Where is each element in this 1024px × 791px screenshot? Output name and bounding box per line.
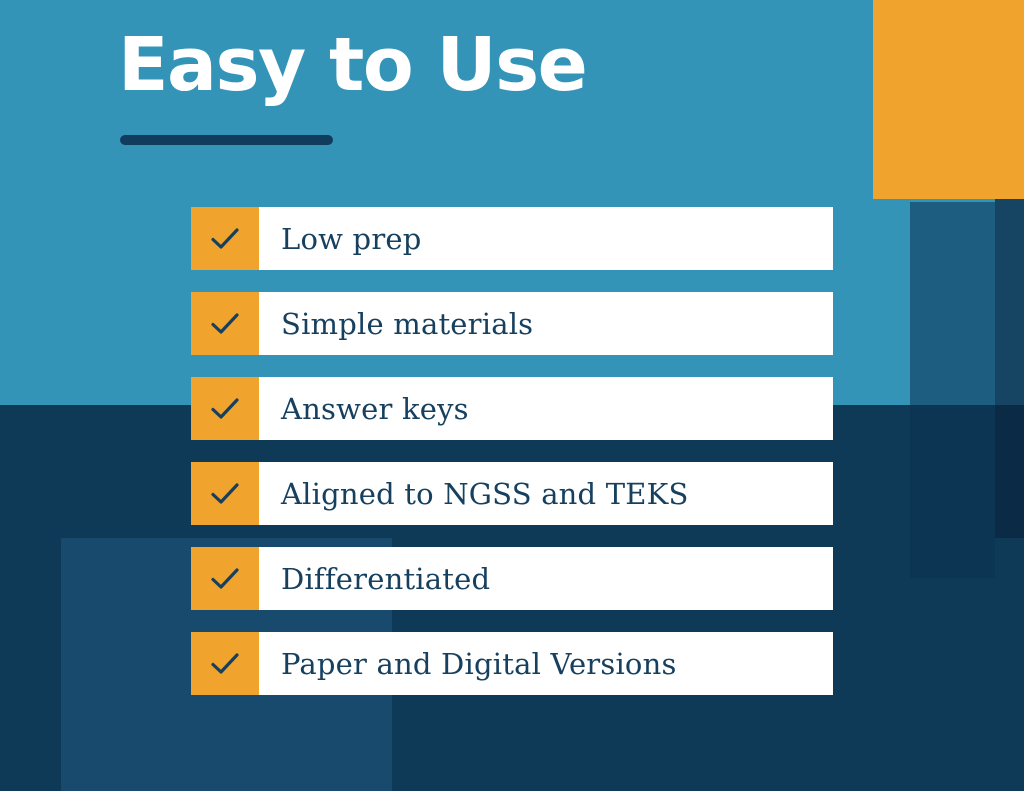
background-navy-column-right [995,199,1024,538]
list-item: Paper and Digital Versions [191,632,833,695]
list-item-label: Paper and Digital Versions [259,632,833,695]
check-icon [191,462,259,525]
list-item: Differentiated [191,547,833,610]
check-icon [191,632,259,695]
list-item-label: Low prep [259,207,833,270]
page-title: Easy to Use [118,28,586,102]
check-icon [191,547,259,610]
list-item-label: Answer keys [259,377,833,440]
check-icon [191,207,259,270]
list-item-label: Aligned to NGSS and TEKS [259,462,833,525]
check-icon [191,292,259,355]
list-item-label: Simple materials [259,292,833,355]
background-orange-block [873,0,1024,199]
title-underline-rule [120,135,333,145]
list-item: Low prep [191,207,833,270]
list-item: Aligned to NGSS and TEKS [191,462,833,525]
list-item-label: Differentiated [259,547,833,610]
list-item: Simple materials [191,292,833,355]
page-title-wrapper: Easy to Use [118,28,586,102]
check-icon [191,377,259,440]
slide-canvas: Easy to Use Low prep Simple materials [0,0,1024,791]
feature-checklist: Low prep Simple materials Answer keys [191,207,833,695]
list-item: Answer keys [191,377,833,440]
background-navy-column-middle [910,202,995,578]
